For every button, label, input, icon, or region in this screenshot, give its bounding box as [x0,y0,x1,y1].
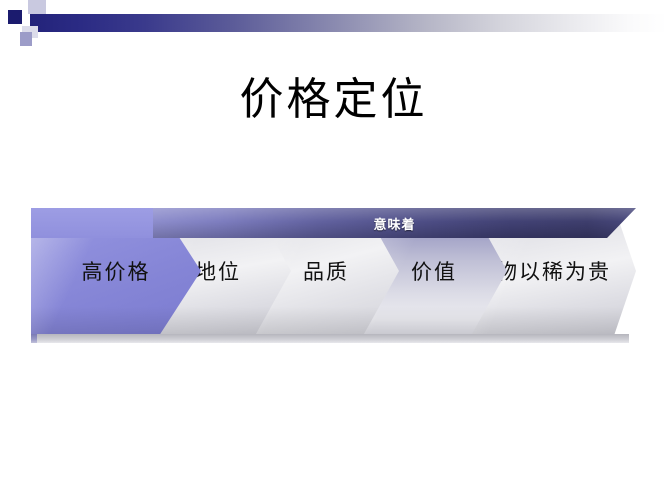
banner-left-purple-cap [31,208,157,238]
chevron-process-diagram: 物以稀为贵 价值 品质 地位 高价格 意味着 [31,208,636,348]
header-gradient-bar [30,14,667,32]
decoration-square-dark [8,10,22,24]
slide-title: 价格定位 [0,70,667,130]
decoration-square-light [28,0,46,14]
slide-header-decoration [0,0,667,60]
diagram-banner-label: 意味着 [153,208,636,238]
diagram-base-shadow [37,334,629,343]
decoration-square-mid [20,32,32,46]
